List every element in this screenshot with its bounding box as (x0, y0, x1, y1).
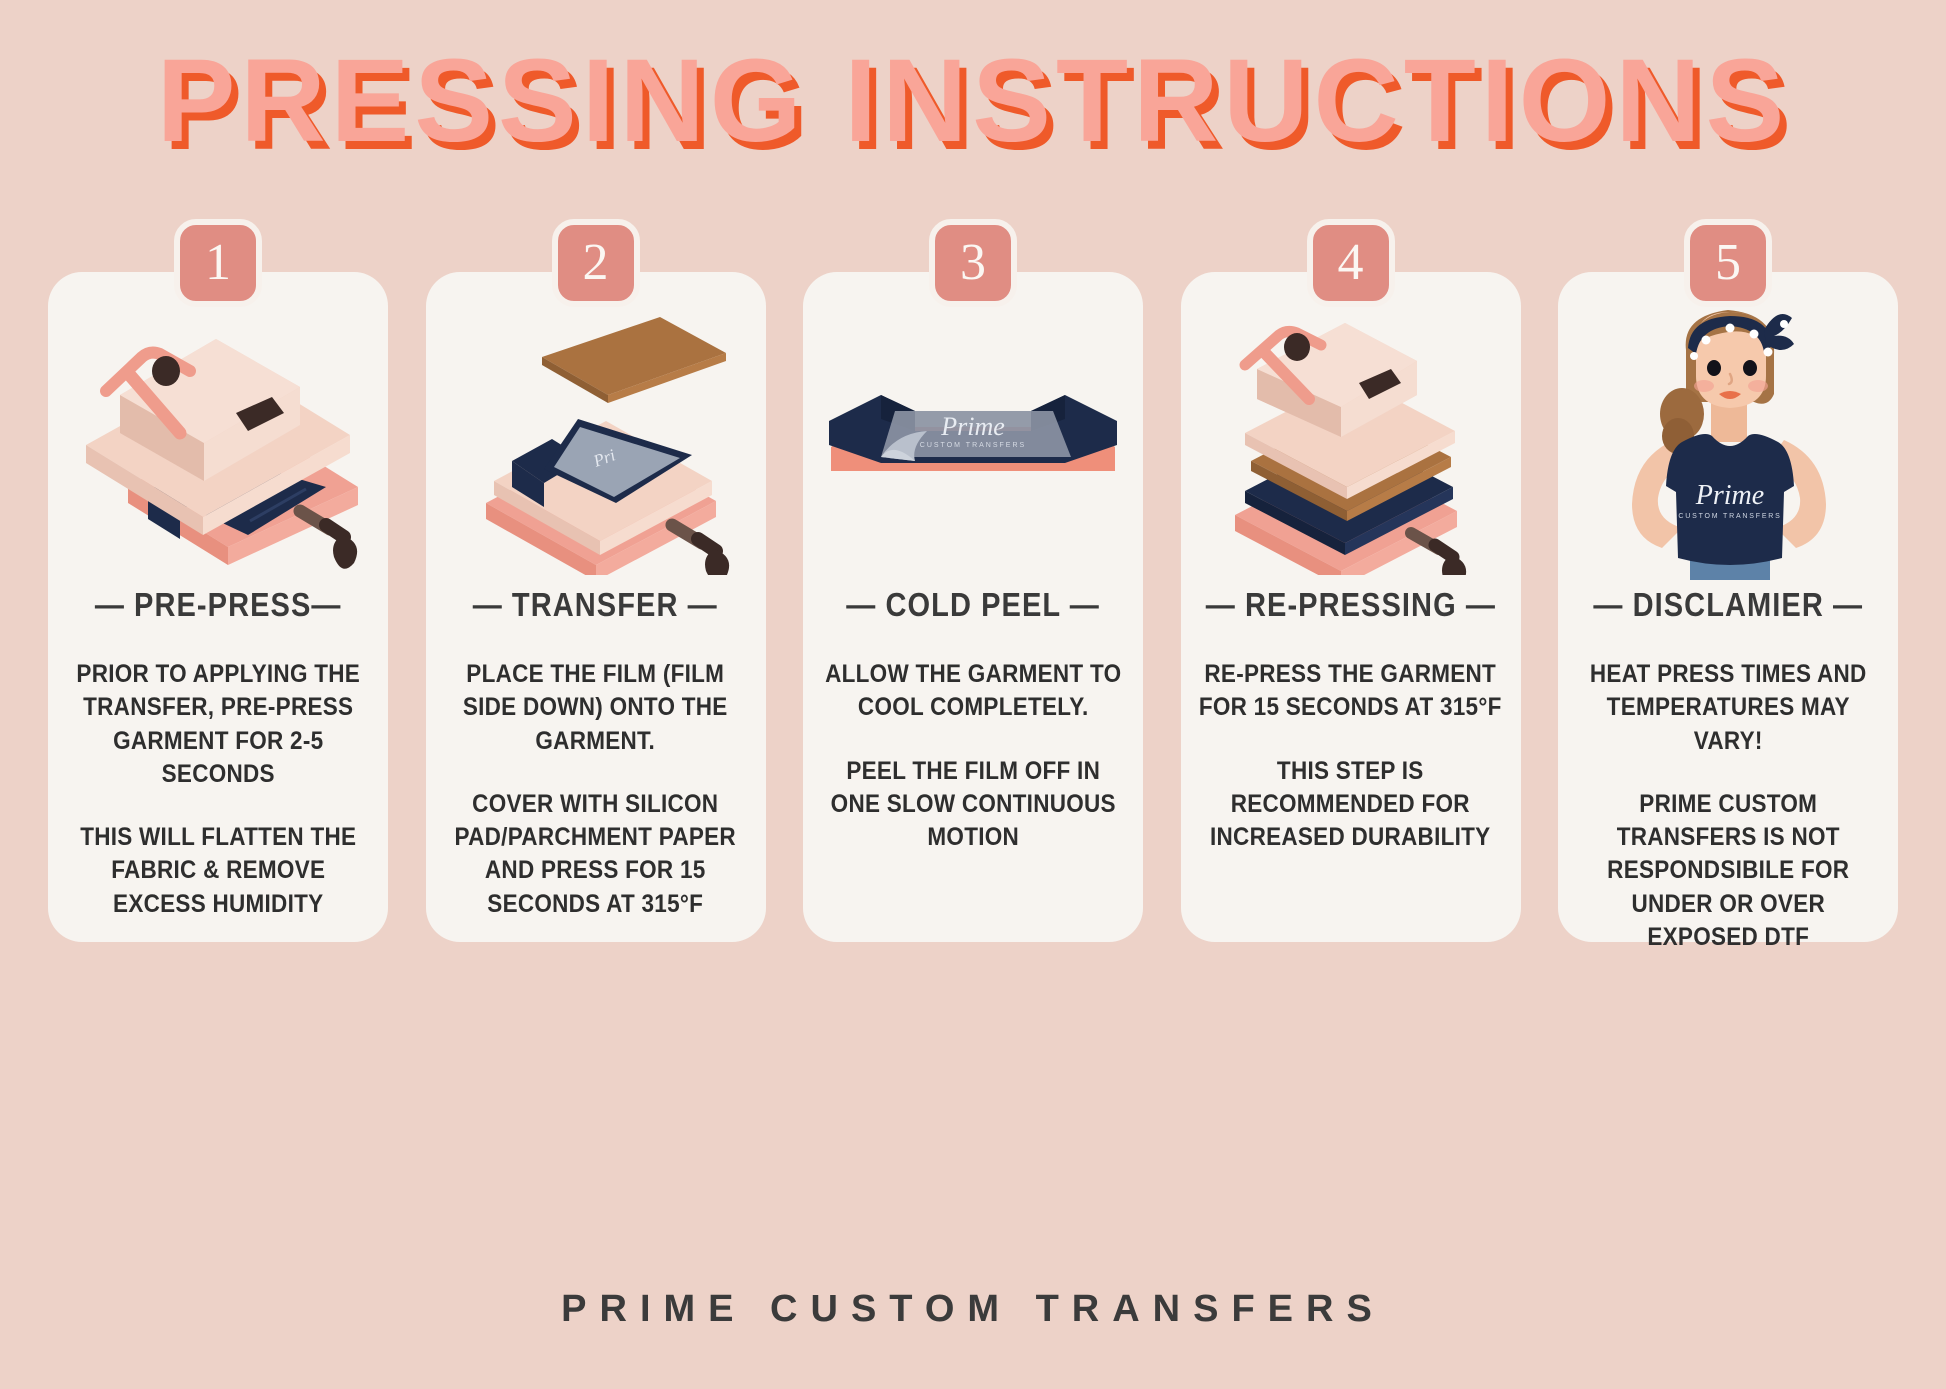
svg-text:Prime: Prime (1695, 480, 1764, 511)
heat-press-stack-illustration: Pri (1199, 290, 1503, 580)
page-title: PRESSING INSTRUCTIONS PRESSING INSTRUCTI… (157, 42, 1790, 160)
step-badge-3: 3 (929, 219, 1017, 307)
step-card-5: 5 (1558, 272, 1898, 942)
step-card-4: 4 Pri (1181, 272, 1521, 942)
svg-text:Prime: Prime (940, 412, 1005, 441)
step-paragraph: PEEL THE FILM OFF IN ONE SLOW CONTINUOUS… (820, 755, 1126, 855)
step-paragraph: HEAT PRESS TIMES AND TEMPERATURES MAY VA… (1575, 658, 1881, 758)
step-badge-2: 2 (552, 219, 640, 307)
parchment-over-garment-illustration: Pri (444, 290, 748, 580)
step-heading-2: — TRANSFER — (473, 586, 718, 624)
woman-wearing-tshirt-illustration: Prime CUSTOM TRANSFERS (1576, 290, 1880, 580)
step-badge-5: 5 (1684, 219, 1772, 307)
step-card-1: 1 (48, 272, 388, 942)
step-paragraph: THIS WILL FLATTEN THE FABRIC & REMOVE EX… (65, 821, 371, 921)
step-body-2: PLACE THE FILM (FILM SIDE DOWN) ONTO THE… (442, 658, 748, 921)
step-heading-4: — RE-PRESSING — (1205, 586, 1495, 624)
step-paragraph: PRIME CUSTOM TRANSFERS IS NOT RESPONDSIB… (1575, 788, 1881, 954)
steps-container: 1 (48, 272, 1898, 942)
step-body-5: HEAT PRESS TIMES AND TEMPERATURES MAY VA… (1575, 658, 1881, 954)
step-card-2: 2 Pri (426, 272, 766, 942)
page-header: PRESSING INSTRUCTIONS PRESSING INSTRUCTI… (0, 42, 1946, 172)
step-body-4: RE-PRESS THE GARMENT FOR 15 SECONDS AT 3… (1197, 658, 1503, 854)
step-badge-1: 1 (174, 219, 262, 307)
step-badge-4: 4 (1307, 219, 1395, 307)
step-body-3: ALLOW THE GARMENT TO COOL COMPLETELY. PE… (820, 658, 1126, 854)
step-paragraph: ALLOW THE GARMENT TO COOL COMPLETELY. (820, 658, 1126, 725)
step-paragraph: COVER WITH SILICON PAD/PARCHMENT PAPER A… (442, 788, 748, 921)
step-body-1: PRIOR TO APPLYING THE TRANSFER, PRE-PRES… (65, 658, 371, 921)
step-heading-3: — COLD PEEL — (846, 586, 1100, 624)
svg-text:CUSTOM TRANSFERS: CUSTOM TRANSFERS (920, 442, 1026, 449)
step-paragraph: THIS STEP IS RECOMMENDED FOR INCREASED D… (1197, 755, 1503, 855)
step-heading-5: — DISCLAMIER — (1593, 586, 1863, 624)
step-card-3: 3 Prime CUSTOM TRANSFERS — COLD PEEL — (803, 272, 1143, 942)
footer-brand: PRIME CUSTOM TRANSFERS (0, 1288, 1946, 1331)
svg-text:CUSTOM TRANSFERS: CUSTOM TRANSFERS (1678, 513, 1781, 520)
step-paragraph: RE-PRESS THE GARMENT FOR 15 SECONDS AT 3… (1197, 658, 1503, 725)
tshirt-film-peel-illustration: Prime CUSTOM TRANSFERS (821, 290, 1125, 580)
heat-press-open-illustration (66, 290, 370, 580)
step-paragraph: PRIOR TO APPLYING THE TRANSFER, PRE-PRES… (65, 658, 371, 791)
step-heading-1: — PRE-PRESS— (95, 586, 342, 624)
step-paragraph: PLACE THE FILM (FILM SIDE DOWN) ONTO THE… (442, 658, 748, 758)
page-title-text: PRESSING INSTRUCTIONS (157, 35, 1790, 167)
